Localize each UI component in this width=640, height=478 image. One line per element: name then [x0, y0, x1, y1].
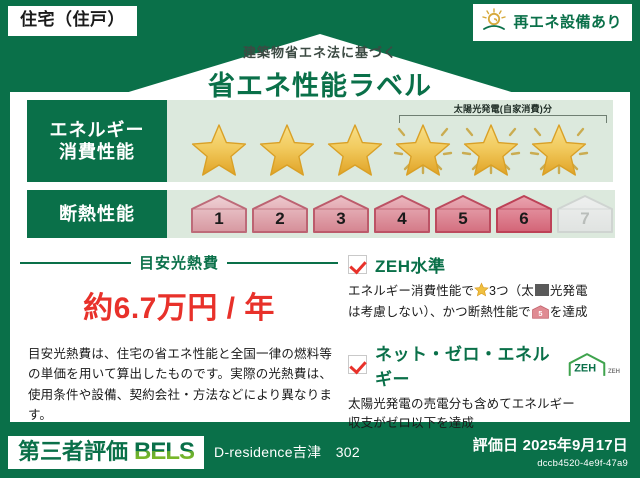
- cost-note-line3: 使用条件や設備、契約会社・方法などにより異なります。: [28, 388, 332, 422]
- utility-cost-value: 約6.7万円 / 年: [20, 283, 338, 327]
- zeh-logo-subtext: ZEH: [608, 369, 620, 375]
- house-icon: 2: [250, 193, 310, 235]
- insulation-row-label-text: 断熱性能: [59, 203, 135, 226]
- energy-performance-label: 住宅（住戸） 再エネ設備あり 建築物省エネ法に基づく 省エネ性能ラベル: [0, 0, 640, 478]
- zeh-desc-part1: エネルギー消費性能で: [348, 284, 474, 298]
- insulation-level-number: 4: [372, 209, 432, 229]
- insulation-row-label: 断熱性能: [27, 190, 167, 238]
- star-icon: [527, 117, 591, 177]
- insulation-level-number: 1: [189, 209, 249, 229]
- renewable-badge-label: 再エネ設備あり: [513, 15, 622, 30]
- star-icon: [323, 117, 387, 177]
- star-icon: [187, 117, 251, 177]
- star-icon: [474, 282, 489, 303]
- house-icon: 7: [555, 193, 615, 235]
- utility-cost-panel: 目安光熱費 約6.7万円 / 年 目安光熱費は、住宅の省エネ性能と全国一律の燃料…: [20, 252, 338, 448]
- energy-row-label-line2: 消費性能: [59, 141, 135, 164]
- star-rating: [167, 117, 591, 177]
- renewable-energy-badge: 再エネ設備あり: [473, 4, 632, 41]
- net-zero-desc-line1: 太陽光発電の売電分も含めてエネルギー: [348, 397, 575, 411]
- energy-performance-row: エネルギー 消費性能 太陽光発電(自家消費)分: [27, 100, 613, 182]
- sun-solar-icon: [481, 8, 507, 36]
- check-icon[interactable]: [348, 255, 367, 274]
- energy-row-label: エネルギー 消費性能: [27, 100, 167, 182]
- label-title-block: 建築物省エネ法に基づく 省エネ性能ラベル: [0, 42, 640, 103]
- net-zero-desc-line2: 収支がゼロ以下を達成: [348, 416, 474, 430]
- svg-text:5: 5: [538, 309, 542, 318]
- insulation-level-number: 2: [250, 209, 310, 229]
- title-subtitle: 建築物省エネ法に基づく: [0, 42, 640, 61]
- net-zero-description: 太陽光発電の売電分も含めてエネルギー 収支がゼロ以下を達成: [348, 395, 620, 434]
- zeh-panel: ZEH水準 エネルギー消費性能で3つ（太光発電 は考慮しない）、かつ断熱性能で5…: [338, 252, 620, 448]
- cost-note-line1: 目安光熱費は、住宅の省エネ性能と全国一律の燃料: [28, 347, 319, 361]
- star-icon: [391, 117, 455, 177]
- rating-rows: エネルギー 消費性能 太陽光発電(自家消費)分: [27, 100, 613, 246]
- evaluation-id: dccb4520-4e9f-47a9: [473, 458, 628, 469]
- page-title: 省エネ性能ラベル: [0, 64, 640, 103]
- zeh-standard-header: ZEH水準: [348, 252, 620, 277]
- house-icon: 6: [494, 193, 554, 235]
- cost-rule-right: [227, 262, 338, 264]
- star-icon: [255, 117, 319, 177]
- energy-row-label-line1: エネルギー: [50, 119, 145, 142]
- cost-rule-left: [20, 262, 131, 264]
- building-type-chip: 住宅（住戸）: [8, 6, 137, 36]
- zeh-desc-star-count: 3つ（太: [489, 284, 534, 298]
- net-zero-energy-block: ネット・ゼロ・エネルギー ZEH ZEH 太陽光発電の売電分も含めてエネルギー …: [348, 340, 620, 434]
- redaction-block: [535, 284, 549, 296]
- insulation-level-number: 7: [555, 209, 615, 229]
- house-icon: 5: [433, 193, 493, 235]
- solar-portion-note: 太陽光発電(自家消費)分: [397, 102, 609, 115]
- lower-content: 目安光熱費 約6.7万円 / 年 目安光熱費は、住宅の省エネ性能と全国一律の燃料…: [20, 252, 620, 448]
- utility-cost-heading: 目安光熱費: [20, 252, 338, 273]
- zeh-standard-description: エネルギー消費性能で3つ（太光発電 は考慮しない）、かつ断熱性能で5を達成: [348, 282, 620, 326]
- house-icon: 1: [189, 193, 249, 235]
- net-zero-header: ネット・ゼロ・エネルギー ZEH ZEH: [348, 340, 620, 390]
- utility-cost-heading-text: 目安光熱費: [139, 252, 219, 273]
- utility-cost-note: 目安光熱費は、住宅の省エネ性能と全国一律の燃料等の単価を用いて算出したものです。…: [20, 344, 338, 425]
- insulation-performance-row: 断熱性能 1 2: [27, 190, 613, 238]
- net-zero-title: ネット・ゼロ・エネルギー: [375, 340, 557, 390]
- house-icon: 5: [532, 305, 549, 325]
- house-icon: 4: [372, 193, 432, 235]
- insulation-level-number: 3: [311, 209, 371, 229]
- zeh-house-logo-icon: ZEH ZEH: [567, 352, 620, 378]
- zeh-standard-block: ZEH水準 エネルギー消費性能で3つ（太光発電 は考慮しない）、かつ断熱性能で5…: [348, 252, 620, 326]
- svg-text:ZEH: ZEH: [574, 362, 596, 374]
- energy-stars-area: 太陽光発電(自家消費)分: [167, 100, 613, 182]
- insulation-level-number: 5: [433, 209, 493, 229]
- insulation-level-number: 6: [494, 209, 554, 229]
- insulation-level-scale: 1 2 3: [167, 193, 615, 235]
- star-icon: [459, 117, 523, 177]
- zeh-desc-part2: 光発電: [550, 284, 588, 298]
- zeh-desc-line2b: を達成: [550, 305, 588, 319]
- check-icon[interactable]: [348, 355, 367, 374]
- house-icon: 3: [311, 193, 371, 235]
- zeh-desc-line2a: は考慮しない）、かつ断熱性能で: [348, 305, 531, 319]
- zeh-standard-title: ZEH水準: [375, 252, 446, 277]
- insulation-levels-area: 1 2 3: [167, 190, 615, 238]
